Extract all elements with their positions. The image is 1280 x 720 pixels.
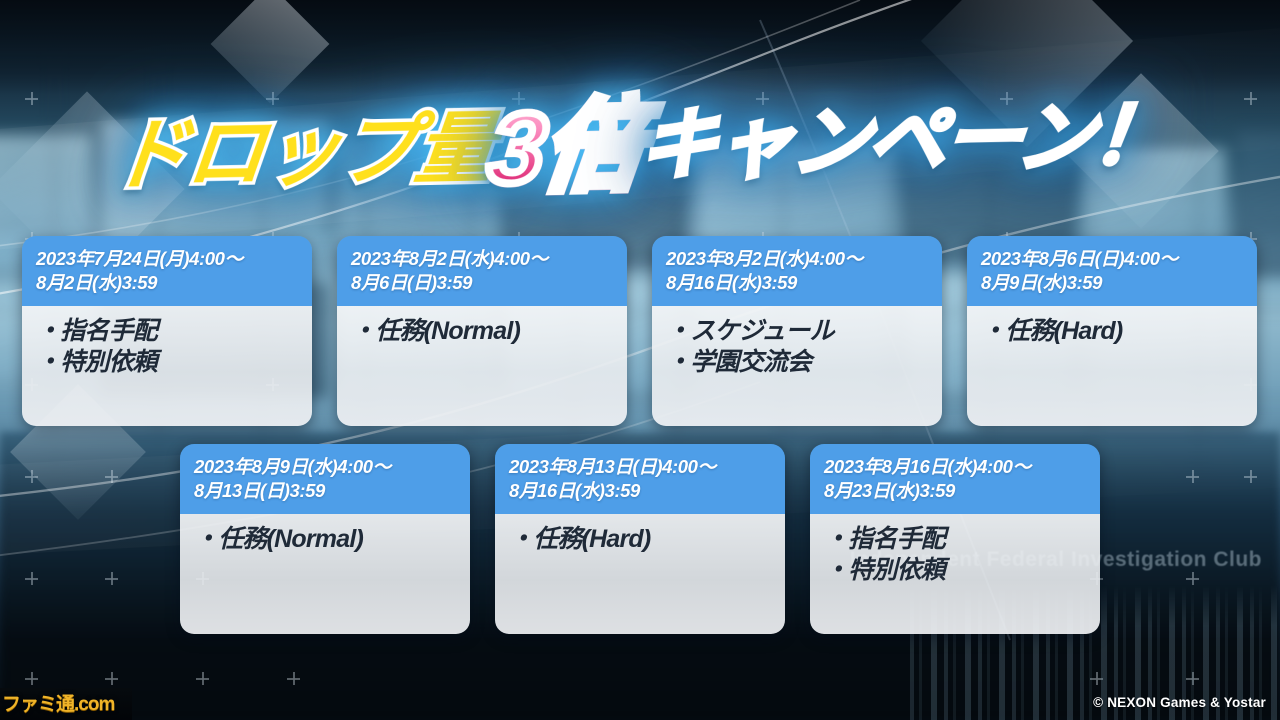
card-period: 2023年8月13日(日)4:00〜 8月16日(水)3:59 bbox=[495, 444, 785, 514]
card-period: 2023年8月2日(水)4:00〜 8月6日(日)3:59 bbox=[337, 236, 627, 306]
card-period-start: 2023年8月2日(水)4:00〜 bbox=[666, 248, 863, 269]
card-period: 2023年7月24日(月)4:00〜 8月2日(水)3:59 bbox=[22, 236, 312, 306]
schedule-card: 2023年8月13日(日)4:00〜 8月16日(水)3:59 ・任務(Hard… bbox=[495, 444, 785, 634]
card-period: 2023年8月9日(水)4:00〜 8月13日(日)3:59 bbox=[180, 444, 470, 514]
card-period-start: 2023年8月13日(日)4:00〜 bbox=[509, 456, 716, 477]
schedule-card: 2023年8月16日(水)4:00〜 8月23日(水)3:59 ・指名手配 ・特… bbox=[810, 444, 1100, 634]
copyright-notice: © NEXON Games & Yostar bbox=[1093, 695, 1266, 710]
schedule-card: 2023年8月2日(水)4:00〜 8月16日(水)3:59 ・スケジュール ・… bbox=[652, 236, 942, 426]
card-item: ・スケジュール bbox=[666, 316, 930, 347]
card-items: ・任務(Hard) bbox=[495, 514, 785, 634]
card-item: ・任務(Hard) bbox=[509, 524, 773, 555]
card-period-start: 2023年8月16日(水)4:00〜 bbox=[824, 456, 1031, 477]
card-period-end: 8月23日(水)3:59 bbox=[824, 479, 1088, 503]
card-item: ・任務(Hard) bbox=[981, 316, 1245, 347]
schedule-card: 2023年7月24日(月)4:00〜 8月2日(水)3:59 ・指名手配 ・特別… bbox=[22, 236, 312, 426]
card-item: ・特別依頼 bbox=[824, 555, 1088, 586]
card-item: ・特別依頼 bbox=[36, 347, 300, 378]
schedule-card: 2023年8月9日(水)4:00〜 8月13日(日)3:59 ・任務(Norma… bbox=[180, 444, 470, 634]
card-items: ・任務(Normal) bbox=[180, 514, 470, 634]
card-period: 2023年8月16日(水)4:00〜 8月23日(水)3:59 bbox=[810, 444, 1100, 514]
card-items: ・任務(Normal) bbox=[337, 306, 627, 426]
campaign-poster: Independent Federal Investigation Club ド… bbox=[0, 0, 1280, 720]
card-period-end: 8月16日(水)3:59 bbox=[509, 479, 773, 503]
card-period-start: 2023年8月9日(水)4:00〜 bbox=[194, 456, 391, 477]
card-item: ・指名手配 bbox=[36, 316, 300, 347]
card-item: ・学園交流会 bbox=[666, 347, 930, 378]
card-items: ・任務(Hard) bbox=[967, 306, 1257, 426]
card-period: 2023年8月6日(日)4:00〜 8月9日(水)3:59 bbox=[967, 236, 1257, 306]
famitsu-watermark: ファミ通.com bbox=[2, 692, 122, 718]
card-period-end: 8月6日(日)3:59 bbox=[351, 271, 615, 295]
card-period-end: 8月2日(水)3:59 bbox=[36, 271, 300, 295]
schedule-card: 2023年8月2日(水)4:00〜 8月6日(日)3:59 ・任務(Normal… bbox=[337, 236, 627, 426]
card-item: ・指名手配 bbox=[824, 524, 1088, 555]
card-items: ・スケジュール ・学園交流会 bbox=[652, 306, 942, 426]
card-item: ・任務(Normal) bbox=[351, 316, 615, 347]
card-period-end: 8月16日(水)3:59 bbox=[666, 271, 930, 295]
card-period-end: 8月13日(日)3:59 bbox=[194, 479, 458, 503]
card-period-start: 2023年7月24日(月)4:00〜 bbox=[36, 248, 243, 269]
card-period-end: 8月9日(水)3:59 bbox=[981, 271, 1245, 295]
card-period: 2023年8月2日(水)4:00〜 8月16日(水)3:59 bbox=[652, 236, 942, 306]
schedule-card: 2023年8月6日(日)4:00〜 8月9日(水)3:59 ・任務(Hard) bbox=[967, 236, 1257, 426]
card-period-start: 2023年8月6日(日)4:00〜 bbox=[981, 248, 1178, 269]
card-period-start: 2023年8月2日(水)4:00〜 bbox=[351, 248, 548, 269]
card-item: ・任務(Normal) bbox=[194, 524, 458, 555]
card-items: ・指名手配 ・特別依頼 bbox=[22, 306, 312, 426]
card-items: ・指名手配 ・特別依頼 bbox=[810, 514, 1100, 634]
